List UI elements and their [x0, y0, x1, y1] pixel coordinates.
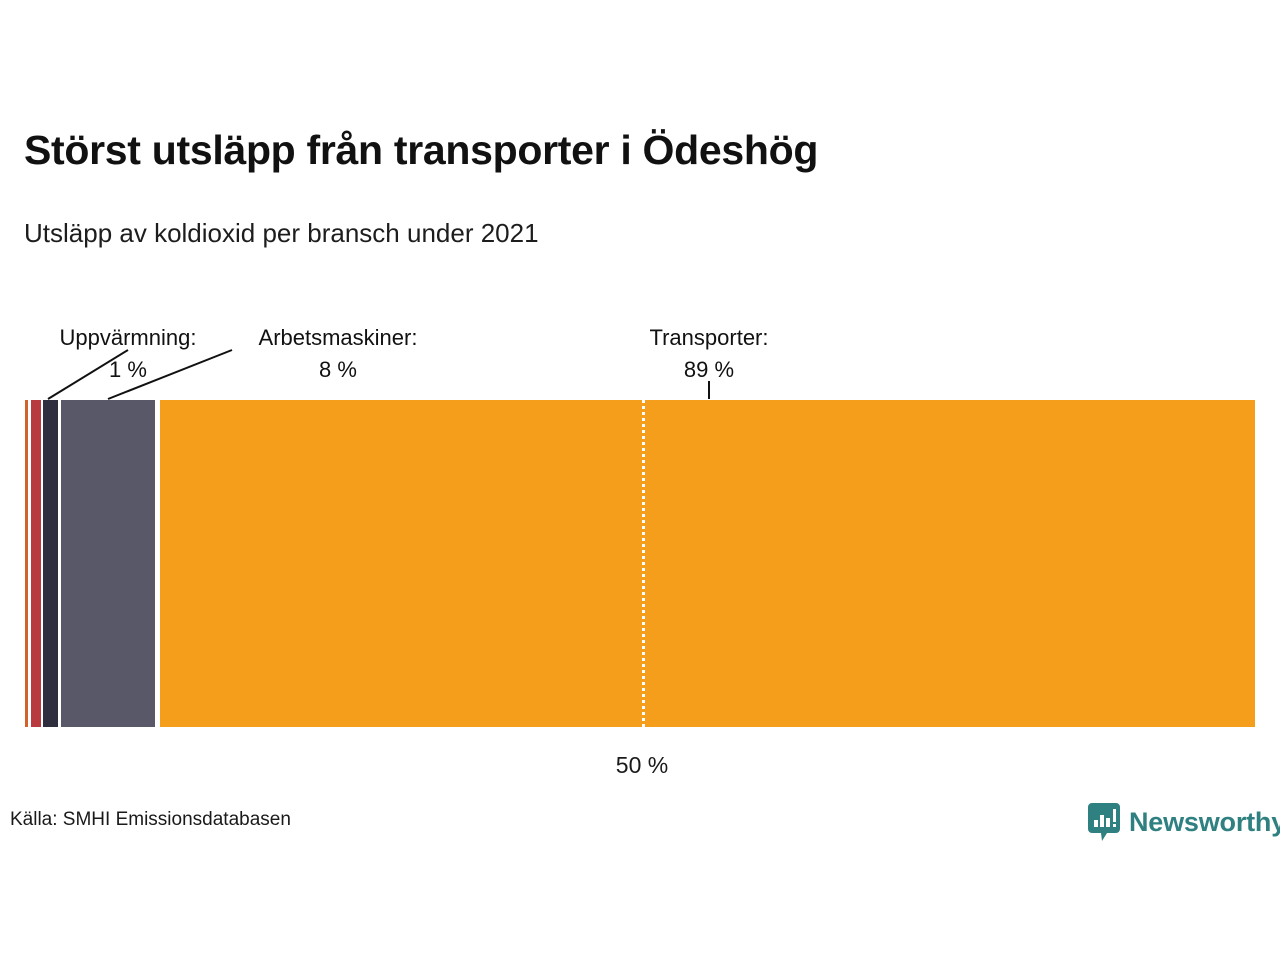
chart-title: Störst utsläpp från transporter i Ödeshö…	[24, 127, 818, 174]
chart-container: Störst utsläpp från transporter i Ödeshö…	[0, 0, 1280, 960]
gridline-50-percent	[642, 400, 645, 727]
chart-subtitle: Utsläpp av koldioxid per bransch under 2…	[24, 218, 539, 249]
bar-segment-arbetsmaskiner[interactable]	[61, 400, 155, 727]
annotation-transporter: Transporter: 89 %	[609, 322, 809, 386]
annotation-arbetsmaskiner-value: 8 %	[234, 354, 442, 386]
annotation-arbetsmaskiner-label: Arbetsmaskiner:	[234, 322, 442, 354]
stacked-bar	[24, 400, 1256, 727]
newsworthy-wordmark: Newsworthy	[1129, 807, 1280, 838]
axis-tick-label-50: 50 %	[582, 752, 702, 779]
annotation-transporter-value: 89 %	[609, 354, 809, 386]
annotation-arbetsmaskiner: Arbetsmaskiner: 8 %	[234, 322, 442, 386]
bar-segment-uppvarmning[interactable]	[43, 400, 58, 727]
speech-bubble-bar-chart-icon	[1088, 803, 1120, 841]
source-note: Källa: SMHI Emissionsdatabasen	[10, 809, 291, 831]
annotation-uppvarmning: Uppvärmning: 1 %	[38, 322, 218, 386]
bar-segment-2[interactable]	[31, 400, 41, 727]
newsworthy-logo[interactable]: Newsworthy	[1088, 800, 1280, 844]
annotation-uppvarmning-value: 1 %	[38, 354, 218, 386]
bar-segment-1[interactable]	[25, 400, 28, 727]
annotation-uppvarmning-label: Uppvärmning:	[38, 322, 218, 354]
bar-segment-transporter[interactable]	[160, 400, 1255, 727]
annotation-transporter-label: Transporter:	[609, 322, 809, 354]
